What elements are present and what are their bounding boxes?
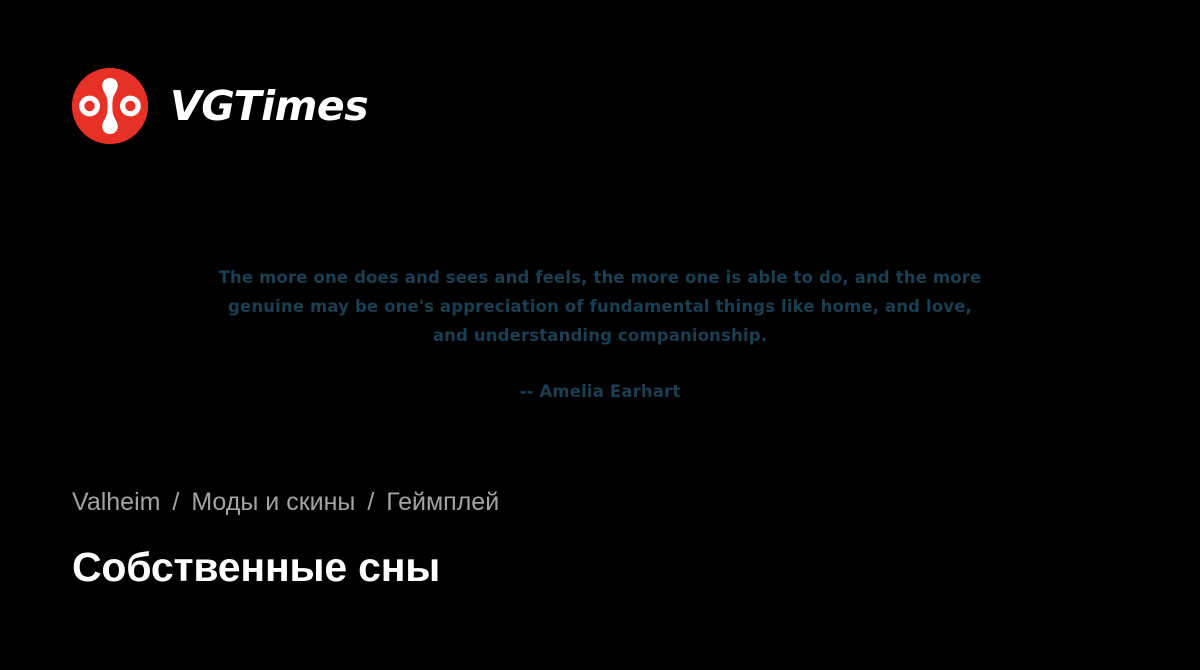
quote-line: genuine may be one's appreciation of fun… (180, 292, 1020, 321)
breadcrumb-item-category[interactable]: Моды и скины (191, 488, 355, 516)
quote-block: The more one does and sees and feels, th… (0, 263, 1200, 406)
breadcrumb-item-subcategory[interactable]: Геймплей (386, 488, 499, 516)
page-root: VGTimes The more one does and sees and f… (0, 0, 1200, 670)
quote-line: The more one does and sees and feels, th… (180, 263, 1020, 292)
site-logo-link[interactable]: VGTimes (72, 68, 368, 144)
breadcrumb-separator: / (167, 488, 184, 516)
quote-attribution: -- Amelia Earhart (0, 377, 1200, 406)
site-logo-wordmark: VGTimes (170, 86, 368, 127)
breadcrumb-separator: / (362, 488, 379, 516)
vgtimes-logo-icon (72, 68, 148, 144)
site-header: VGTimes (72, 68, 368, 144)
breadcrumb: Valheim / Моды и скины / Геймплей (72, 487, 1132, 517)
quote-line: and understanding companionship. (180, 321, 1020, 350)
breadcrumb-item-game[interactable]: Valheim (72, 488, 160, 516)
quote-text: The more one does and sees and feels, th… (180, 263, 1020, 350)
article-header: Valheim / Моды и скины / Геймплей Собств… (72, 487, 1132, 591)
page-title: Собственные сны (72, 543, 1132, 591)
